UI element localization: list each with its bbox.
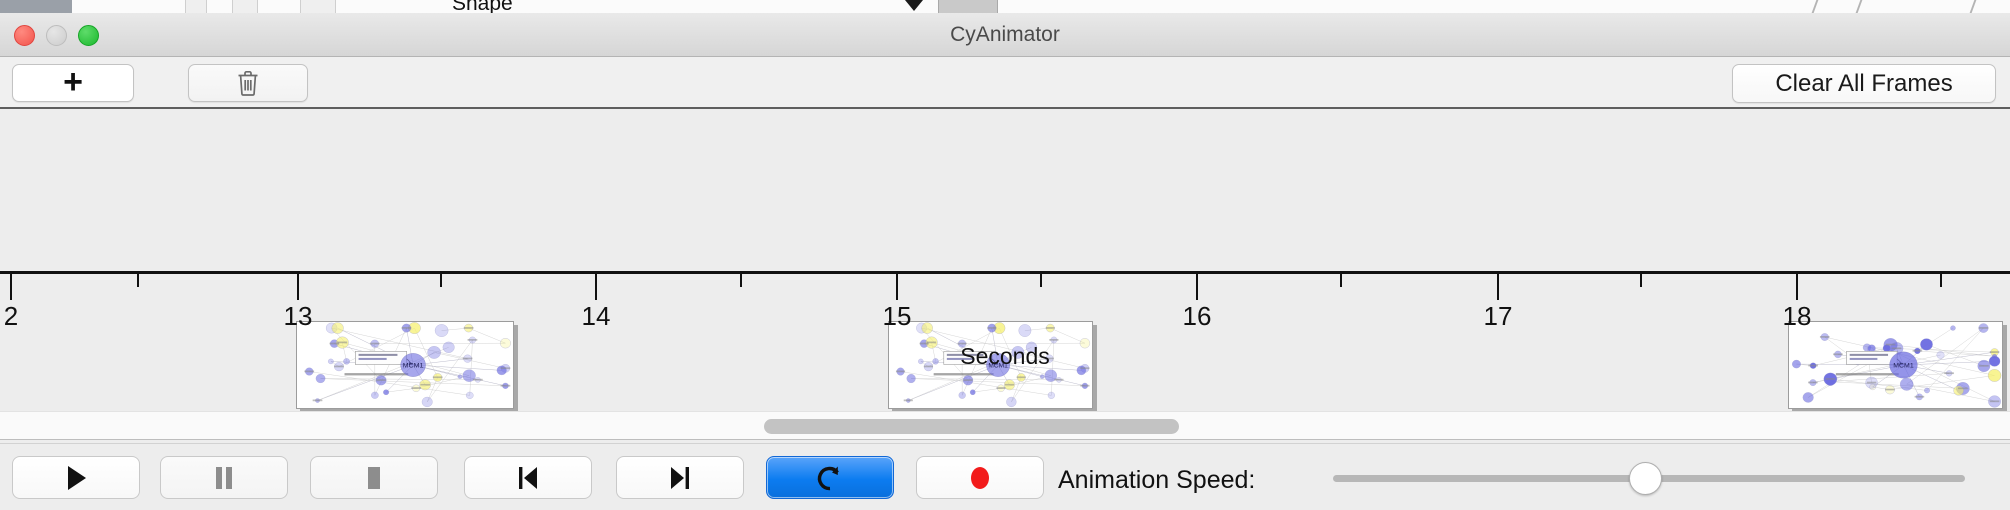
ruler-minor-tick xyxy=(1040,274,1042,287)
background-slash xyxy=(1856,0,1875,13)
loop-icon xyxy=(815,463,845,493)
ruler-major-tick xyxy=(1196,274,1198,300)
background-segment xyxy=(232,0,258,13)
record-icon xyxy=(965,463,995,493)
background-window-strip: Shape xyxy=(0,0,2010,13)
skip-forward-icon xyxy=(665,463,695,493)
ruler-baseline xyxy=(0,271,2010,274)
background-segment xyxy=(185,0,207,13)
ruler-major-tick xyxy=(1796,274,1798,300)
play-button[interactable] xyxy=(12,456,140,499)
ruler-minor-tick xyxy=(137,274,139,287)
pause-icon xyxy=(211,463,237,493)
play-icon xyxy=(62,463,90,493)
ruler-tick-label: 15 xyxy=(883,301,912,332)
delete-frame-button[interactable] xyxy=(188,64,308,102)
ruler-axis-title: Seconds xyxy=(0,343,2010,370)
loop-button[interactable] xyxy=(766,456,894,499)
ruler-minor-tick xyxy=(1640,274,1642,287)
pause-button[interactable] xyxy=(160,456,288,499)
background-slash xyxy=(1812,0,1831,13)
trash-icon xyxy=(236,69,260,97)
background-caret-icon xyxy=(905,0,923,11)
timeline-panel[interactable]: MCM1 MCM1 MCM1 2131415161718 Seconds xyxy=(0,111,2010,411)
ruler-tick-label: 2 xyxy=(4,301,18,332)
scrollbar-thumb[interactable] xyxy=(764,419,1179,434)
clear-all-frames-button[interactable]: Clear All Frames xyxy=(1732,64,1996,103)
ruler-tick-label: 16 xyxy=(1183,301,1212,332)
background-dark-block xyxy=(0,0,72,13)
title-bar[interactable]: CyAnimator xyxy=(0,13,2010,57)
timeline-horizontal-scrollbar[interactable] xyxy=(0,411,2010,440)
ruler-minor-tick xyxy=(740,274,742,287)
background-window-label: Shape xyxy=(452,0,513,13)
maximize-button[interactable] xyxy=(78,25,99,46)
stop-icon xyxy=(361,463,387,493)
ruler-tick-label: 13 xyxy=(284,301,313,332)
add-frame-button[interactable]: + xyxy=(12,64,134,102)
skip-to-end-button[interactable] xyxy=(616,456,744,499)
ruler-major-tick xyxy=(1497,274,1499,300)
ruler-tick-label: 17 xyxy=(1484,301,1513,332)
ruler-tick-label: 18 xyxy=(1783,301,1812,332)
traffic-light-group xyxy=(14,25,99,46)
ruler-major-tick xyxy=(896,274,898,300)
animation-speed-slider[interactable] xyxy=(1333,475,1965,482)
slider-thumb[interactable] xyxy=(1629,462,1662,495)
ruler-minor-tick xyxy=(1940,274,1942,287)
background-slash xyxy=(1970,0,1989,13)
plus-icon: + xyxy=(63,65,83,99)
record-button[interactable] xyxy=(916,456,1044,499)
cyanimator-window: Shape CyAnimator + xyxy=(0,0,2010,510)
skip-back-icon xyxy=(513,463,543,493)
skip-to-start-button[interactable] xyxy=(464,456,592,499)
ruler-minor-tick xyxy=(440,274,442,287)
ruler-major-tick xyxy=(297,274,299,300)
ruler-major-tick xyxy=(595,274,597,300)
window-title: CyAnimator xyxy=(0,13,2010,57)
background-grey-block xyxy=(938,0,998,13)
playback-control-bar: Animation Speed: xyxy=(0,443,2010,510)
background-segment xyxy=(300,0,336,13)
toolbar: + Clear All Frames xyxy=(0,57,2010,109)
ruler-major-tick xyxy=(10,274,12,300)
ruler-tick-label: 14 xyxy=(582,301,611,332)
clear-all-frames-label: Clear All Frames xyxy=(1775,70,1952,98)
timeline-ruler: 2131415161718 Seconds xyxy=(0,271,2010,365)
stop-button[interactable] xyxy=(310,456,438,499)
ruler-minor-tick xyxy=(1340,274,1342,287)
close-button[interactable] xyxy=(14,25,35,46)
animation-speed-label: Animation Speed: xyxy=(1058,466,1255,495)
minimize-button[interactable] xyxy=(46,25,67,46)
